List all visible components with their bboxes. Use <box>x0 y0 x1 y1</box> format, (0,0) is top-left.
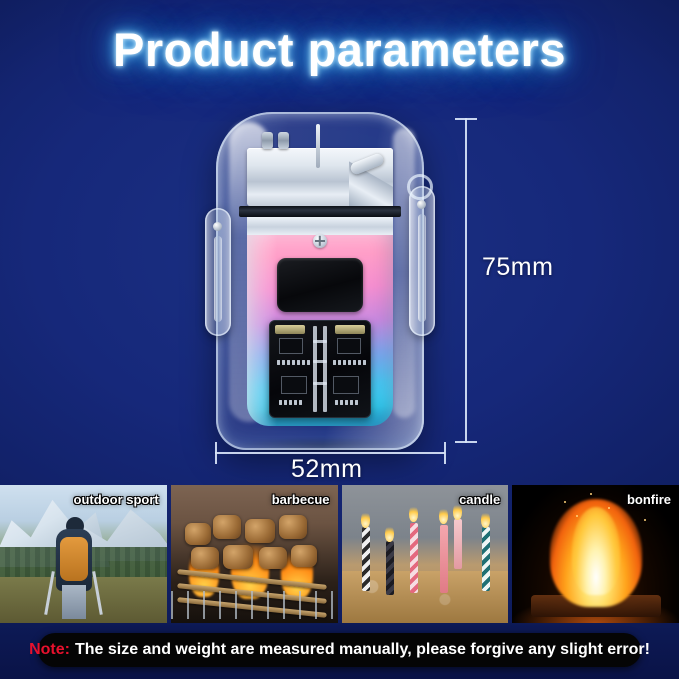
product-parameters-infographic: Product parameters <box>0 0 679 679</box>
photo-label: bonfire <box>627 492 671 507</box>
product-image <box>205 112 435 452</box>
photo-outdoor-sport: outdoor sport <box>0 485 167 623</box>
spark <box>590 493 592 495</box>
electrode-pin-right <box>278 132 289 149</box>
dim-cap-right <box>444 442 446 464</box>
grill-grate <box>171 591 338 619</box>
photo-barbecue: barbecue <box>171 485 338 623</box>
meat-piece <box>245 519 275 543</box>
candle <box>440 525 448 593</box>
photo-label: candle <box>459 492 500 507</box>
case-clip-left <box>205 208 231 336</box>
dim-label-width: 52mm <box>291 455 362 484</box>
pcb-solder-row <box>335 400 358 405</box>
candle <box>386 541 394 595</box>
photo-candle: candle <box>342 485 509 623</box>
clip-rivet <box>213 222 222 231</box>
clip-bar <box>214 236 222 322</box>
pcb-solder-row <box>277 360 310 365</box>
pcb-trace <box>323 326 327 412</box>
pcb-solder-row <box>279 400 302 405</box>
photo-label: outdoor sport <box>74 492 159 507</box>
meat-piece <box>185 523 211 545</box>
candle-flame <box>385 525 394 542</box>
dim-line-width <box>215 452 445 454</box>
pcb-chip <box>279 338 303 354</box>
pcb-solder-row <box>333 360 366 365</box>
meat-piece <box>213 515 241 539</box>
note-section: Note: The size and weight are measured m… <box>0 623 679 679</box>
pcb-chip <box>337 338 361 354</box>
spark <box>644 519 646 521</box>
note-bar: Note: The size and weight are measured m… <box>38 633 641 667</box>
note-text: The size and weight are measured manuall… <box>75 641 650 659</box>
page-title: Product parameters <box>0 22 679 77</box>
meat-piece <box>291 545 317 567</box>
photo-bonfire: bonfire <box>512 485 679 623</box>
pcb-trace <box>313 360 327 363</box>
meat-piece <box>259 547 287 569</box>
candle <box>410 523 418 593</box>
pcb-pad-right <box>335 325 365 334</box>
clip-rivet <box>417 200 426 209</box>
photo-label: barbecue <box>272 492 330 507</box>
candle <box>482 527 490 591</box>
case-hinge-rod <box>316 124 320 168</box>
fire-core <box>572 507 620 595</box>
candle <box>454 519 462 569</box>
note-keyword: Note: <box>29 641 70 659</box>
candle-flame <box>481 511 490 528</box>
case-clip-right <box>409 186 435 336</box>
pcb-chip <box>333 376 359 394</box>
silver-band <box>247 217 393 235</box>
pcb-trace <box>313 382 327 385</box>
backpack <box>60 537 88 581</box>
dim-cap-bottom <box>455 441 477 443</box>
dim-line-height <box>465 118 467 443</box>
spark <box>564 501 566 503</box>
pcb-chip <box>281 376 307 394</box>
screw-icon <box>313 234 327 248</box>
candle <box>362 527 370 591</box>
seal-band <box>239 206 401 217</box>
meat-piece <box>191 547 219 569</box>
pcb-pad-left <box>275 325 305 334</box>
meat-piece <box>223 545 253 569</box>
candle-flame <box>361 511 370 528</box>
clip-bar <box>418 214 426 322</box>
use-case-photo-strip: outdoor sport barbecue <box>0 485 679 623</box>
display-window <box>277 258 363 312</box>
hiker-legs <box>62 585 86 619</box>
candle-flame <box>409 505 418 522</box>
dim-label-height: 75mm <box>482 253 553 282</box>
lanyard-ring-icon <box>407 174 433 200</box>
electrode-pin-left <box>262 132 273 149</box>
circuit-board <box>269 320 371 418</box>
pcb-trace <box>313 340 327 343</box>
meat-piece <box>279 515 307 539</box>
candle-flame <box>439 507 448 524</box>
pcb-trace <box>313 326 317 412</box>
